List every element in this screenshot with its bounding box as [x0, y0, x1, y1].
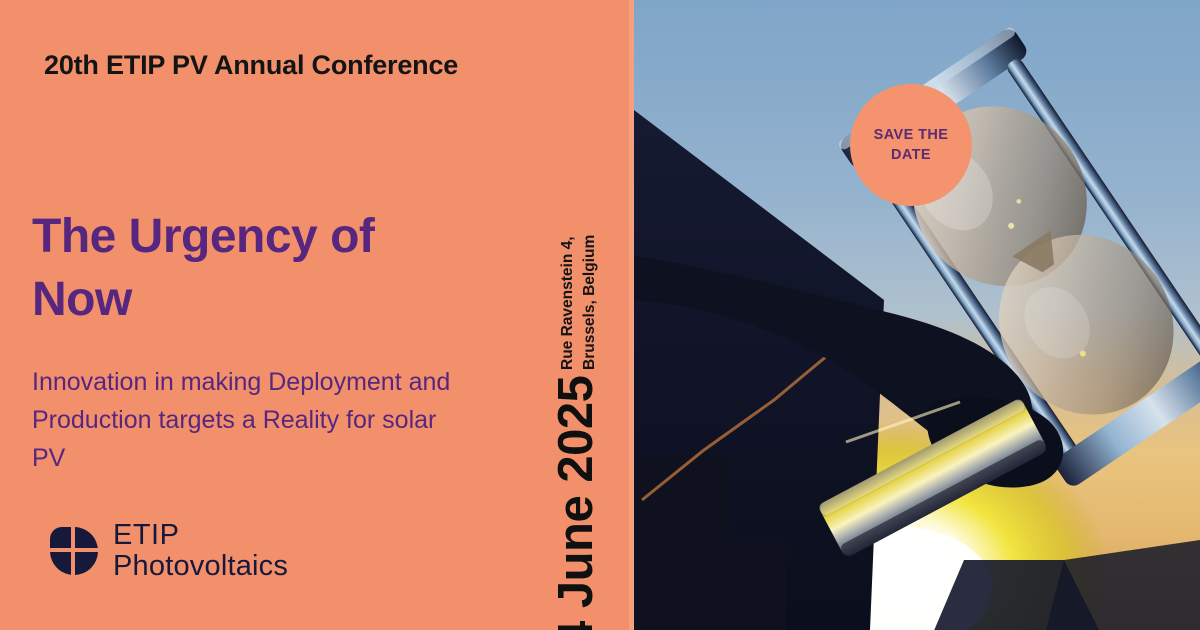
badge-line-2: DATE [891, 148, 931, 163]
event-poster: 20th ETIP PV Annual Conference The Urgen… [0, 0, 1200, 630]
etip-photovoltaics-logo: ETIP Photovoltaics [48, 521, 288, 581]
subheadline: Innovation in making Deployment and Prod… [32, 363, 462, 477]
conference-title: 20th ETIP PV Annual Conference [44, 50, 458, 81]
event-date: 4 June 2025 [548, 318, 604, 630]
etip-solar-cell-quadrant-icon [48, 525, 100, 577]
logo-wordmark: ETIP Photovoltaics [113, 521, 288, 581]
hourglass-sunset-photo: SAVE THE DATE [634, 0, 1200, 630]
logo-line-1: ETIP [113, 521, 288, 550]
save-the-date-badge: SAVE THE DATE [850, 84, 972, 206]
badge-line-1: SAVE THE [874, 128, 949, 143]
logo-line-2: Photovoltaics [113, 552, 288, 581]
page-title: The Urgency of Now [32, 205, 462, 332]
vertical-info-strip: Rue Ravenstein 4, Brussels, Belgium 4 Ju… [519, 0, 631, 630]
